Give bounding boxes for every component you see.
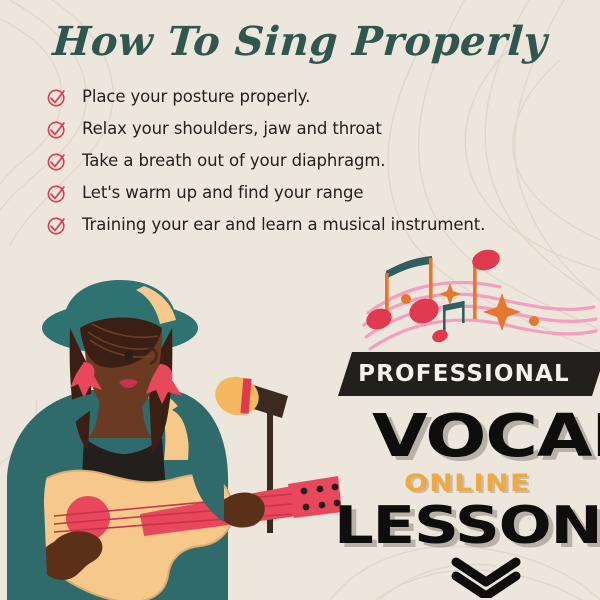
check-circle-icon (46, 87, 68, 109)
check-circle-icon (46, 215, 68, 237)
checklist: Place your posture properly. Relax your … (46, 82, 566, 242)
list-item-label: Relax your shoulders, jaw and throat (82, 121, 382, 138)
list-item: Place your posture properly. (46, 82, 566, 113)
page-title: How To Sing Properly (0, 18, 600, 65)
list-item-label: Training your ear and learn a musical in… (82, 217, 485, 234)
headline-vocal: VOCAL (372, 406, 600, 465)
list-item: Training your ear and learn a musical in… (46, 210, 566, 241)
woman-playing-guitar-illustration (0, 278, 342, 600)
music-notes-graphic (358, 243, 600, 355)
check-circle-icon (46, 151, 68, 173)
list-item: Relax your shoulders, jaw and throat (46, 114, 566, 145)
list-item: Let's warm up and find your range (46, 178, 566, 209)
check-circle-icon (46, 183, 68, 205)
list-item-label: Place your posture properly. (82, 89, 310, 106)
list-item-label: Take a breath out of your diaphragm. (82, 153, 385, 170)
professional-banner: PROFESSIONAL (338, 352, 600, 396)
double-chevron-down-icon (440, 556, 532, 598)
headline-lessons: LESSONS (334, 500, 600, 552)
professional-banner-label: PROFESSIONAL (338, 352, 590, 396)
poster-canvas: How To Sing Properly Place your posture … (0, 0, 600, 600)
sub-label-online: ONLINE (404, 469, 530, 497)
list-item-label: Let's warm up and find your range (82, 185, 363, 202)
list-item: Take a breath out of your diaphragm. (46, 146, 566, 177)
check-circle-icon (46, 119, 68, 141)
